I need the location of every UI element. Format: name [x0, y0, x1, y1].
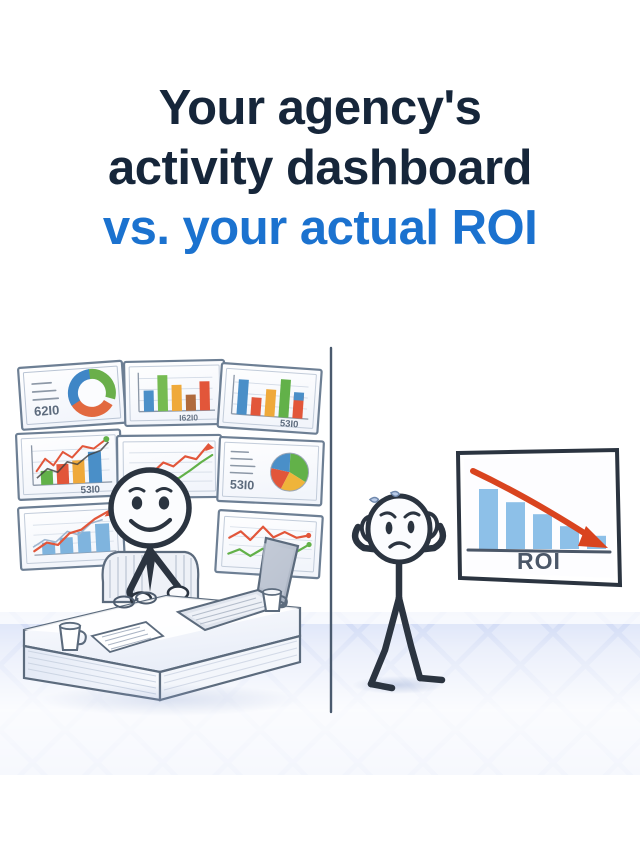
roi-label: ROI — [517, 548, 561, 574]
headline-line-3: vs. your actual ROI — [0, 198, 640, 258]
panel-bars-b-value: 53I0 — [280, 418, 299, 430]
illustration: 62I0 — [0, 340, 640, 790]
poster-canvas: Your agency's activity dashboard vs. you… — [0, 0, 640, 853]
panel-pie-value: 53I0 — [230, 477, 255, 492]
roi-whiteboard: ROI — [458, 450, 620, 585]
panel-bars-a-value: I62I0 — [179, 412, 198, 422]
headline-line-2: activity dashboard — [0, 138, 640, 198]
panel-combo-value: 53I0 — [80, 484, 100, 496]
worried-face — [368, 496, 430, 562]
panel-donut-value: 62I0 — [34, 402, 60, 419]
happy-face — [111, 470, 189, 546]
panel-pie: 53I0 — [217, 437, 324, 505]
panel-combo: 53I0 — [16, 429, 123, 499]
page-title: Your agency's activity dashboard vs. you… — [0, 78, 640, 258]
panel-bars-b: 53I0 — [218, 363, 322, 434]
headline-line-1: Your agency's — [0, 78, 640, 138]
left-scene: 62I0 — [16, 360, 324, 716]
panel-bars-a: I62I0 — [124, 360, 225, 426]
panel-donut: 62I0 — [18, 361, 126, 430]
